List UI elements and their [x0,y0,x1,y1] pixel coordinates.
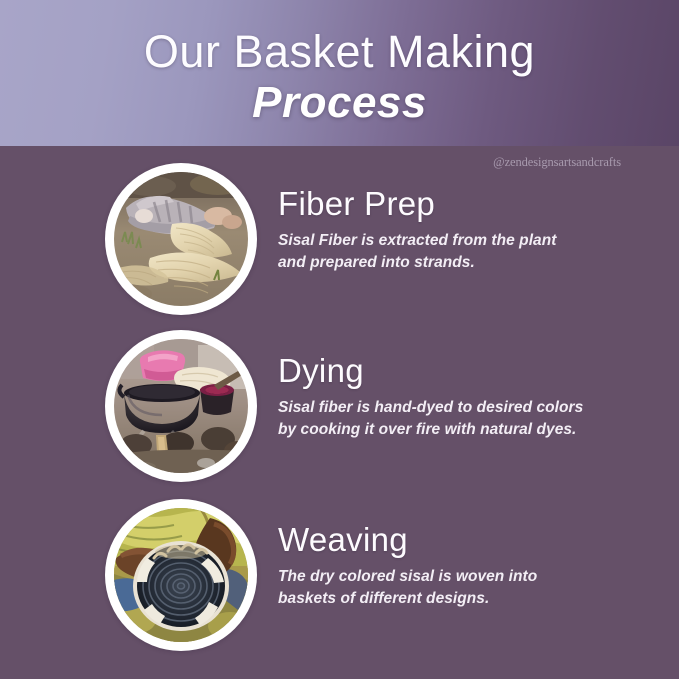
step-description-line-2: by cooking it over fire with natural dye… [278,419,668,441]
step-heading: Fiber Prep [278,185,668,223]
step-photo-frame [105,330,257,482]
step-photo-frame [105,163,257,315]
process-step-dying: Dying Sisal fiber is hand-dyed to desire… [0,330,679,490]
step-description: Sisal Fiber is extracted from the plant … [278,230,668,274]
step-photo-frame [105,499,257,651]
step-description-line-1: Sisal Fiber is extracted from the plant [278,230,668,252]
step-text-block: Dying Sisal fiber is hand-dyed to desire… [278,352,668,441]
step-description-line-1: Sisal fiber is hand-dyed to desired colo… [278,397,668,419]
step-description: The dry colored sisal is woven into bask… [278,566,668,610]
step-description-line-2: baskets of different designs. [278,588,668,610]
step-heading: Dying [278,352,668,390]
process-step-weaving: Weaving The dry colored sisal is woven i… [0,499,679,659]
step-text-block: Fiber Prep Sisal Fiber is extracted from… [278,185,668,274]
step-heading: Weaving [278,521,668,559]
title-line-primary: Our Basket Making [0,26,679,78]
step-text-block: Weaving The dry colored sisal is woven i… [278,521,668,610]
poster-title: Our Basket Making Process [0,26,679,128]
sisal-fiber-drying-photo [114,172,248,306]
step-description: Sisal fiber is hand-dyed to desired colo… [278,397,668,441]
process-step-fiber-prep: Fiber Prep Sisal Fiber is extracted from… [0,163,679,323]
basket-making-process-poster: Our Basket Making Process @zendesignsart… [0,0,679,679]
hands-weaving-basket-photo [114,508,248,642]
dye-pot-over-fire-photo [114,339,248,473]
step-description-line-1: The dry colored sisal is woven into [278,566,668,588]
step-description-line-2: and prepared into strands. [278,252,668,274]
title-line-secondary: Process [0,78,679,128]
header-band: Our Basket Making Process [0,0,679,146]
